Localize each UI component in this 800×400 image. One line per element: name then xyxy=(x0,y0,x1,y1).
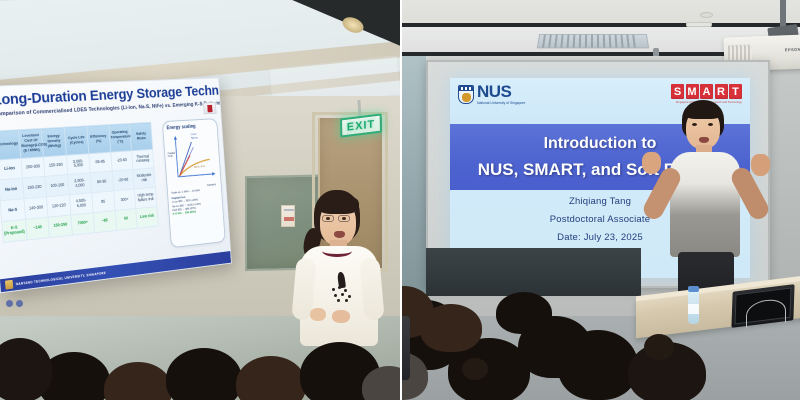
presenter-eye-left xyxy=(326,217,330,220)
cell-operating-temp: -20-60 xyxy=(110,150,133,171)
presenter-mouth xyxy=(699,137,709,143)
cell-energy-density: 150-250 xyxy=(44,155,68,177)
presenter-mouth xyxy=(334,231,345,238)
shirt-graphic xyxy=(330,272,356,302)
cell-energy-density: 120-220 xyxy=(47,195,71,217)
exit-sign-label: EXIT xyxy=(347,118,375,134)
panel-divider xyxy=(400,0,402,400)
audience-hair-bun xyxy=(644,334,674,360)
smart-letter: T xyxy=(729,84,742,99)
presenter-hand-left xyxy=(642,152,661,174)
presenter-eye-right xyxy=(708,123,713,126)
presenter-hand-right xyxy=(751,154,770,176)
bottle-cap xyxy=(688,286,699,292)
presenter-hand-left xyxy=(310,308,326,321)
smart-letter: M xyxy=(686,84,699,99)
energy-scaling-plot: Li-ionNa-ion Na-S / K-S Capital Cost Cap… xyxy=(167,129,218,189)
presenter-arm-right xyxy=(359,257,384,321)
audience-head xyxy=(104,362,172,400)
cell-operating-temp: 300+ xyxy=(113,189,136,210)
nus-tagline: National University of Singapore xyxy=(477,101,525,105)
cell-lcos: ~140 xyxy=(25,217,50,240)
ntu-badge-icon xyxy=(203,102,217,114)
cell-safety: Moderate risk xyxy=(133,168,155,189)
audience-head xyxy=(558,330,638,400)
cell-cycle-life: 7000+ xyxy=(71,213,95,235)
control-dot-icon xyxy=(16,300,23,307)
ntu-crest-icon xyxy=(5,280,13,290)
left-slide: Long-Duration Energy Storage Technologie… xyxy=(0,78,231,292)
audience-head xyxy=(0,338,52,400)
cell-lcos: 140-300 xyxy=(24,197,49,219)
crest-band xyxy=(459,86,473,91)
cell-energy-density: 100-160 xyxy=(45,175,69,197)
presenter-shirt xyxy=(670,152,740,257)
air-vent xyxy=(537,34,649,48)
nus-wordmark: NUS xyxy=(477,84,525,100)
bottle-label xyxy=(688,304,699,314)
projector-brand-label: EPSON xyxy=(785,47,800,53)
th-efficiency: Efficiency (%) xyxy=(87,125,111,153)
presenter-collar xyxy=(322,245,352,257)
cell-operating-temp: 60 xyxy=(115,209,138,231)
cell-cycle-life: 4,500-6,000 xyxy=(69,193,93,215)
smart-letter: R xyxy=(715,84,728,99)
photo-composite: EXIT Long-Duration Energy Storage Techno… xyxy=(0,0,800,400)
energy-scaling-notes: Scale up: 1 kWh → 10 kWh Capital Cost Li… xyxy=(171,187,219,216)
nus-wordmark-block: NUS National University of Singapore xyxy=(477,84,525,105)
cell-safety: High temp failure risk xyxy=(135,187,157,208)
smoke-detector-icon xyxy=(686,22,712,27)
cell-lcos: 200-300 xyxy=(21,156,46,178)
ldes-comparison-table: Technology Levelized Cost Of Storage(LCO… xyxy=(0,122,159,243)
audience-head xyxy=(236,356,306,400)
th-operating-temp: Operating Temperature (°C) xyxy=(108,124,131,152)
slide-title-line-1: Introduction to xyxy=(544,135,657,153)
presenter-eye-right xyxy=(342,217,346,220)
cell-technology: Na-S xyxy=(0,199,25,222)
th-lcos: Levelized Cost Of Storage(LCOS) ($ / MWh… xyxy=(18,129,43,158)
left-photo-panel: EXIT Long-Duration Energy Storage Techno… xyxy=(0,0,400,400)
cell-energy-density: 150-250 xyxy=(48,215,72,237)
th-safety: Safety Risks xyxy=(130,122,153,150)
left-presenter xyxy=(292,188,384,348)
whiteboard-lower-strip xyxy=(426,248,641,296)
ldes-table-wrapper: Technology Levelized Cost Of Storage(LCO… xyxy=(0,122,159,243)
cell-efficiency: ~85 xyxy=(93,211,116,233)
nus-crest-icon xyxy=(458,85,474,104)
cell-technology: Na-ion xyxy=(0,178,24,201)
smart-letter: S xyxy=(671,84,684,99)
table-body: Li-ion 200-300 150-250 3,000-5,000 85-95… xyxy=(0,149,158,242)
left-projection-screen: Long-Duration Energy Storage Technologie… xyxy=(0,77,232,293)
cell-efficiency: 80-90 xyxy=(90,171,113,193)
th-technology: Technology xyxy=(0,130,21,160)
cell-technology: Li-ion xyxy=(0,158,22,180)
left-side-wall xyxy=(400,56,426,316)
presenter-eye-left xyxy=(692,123,697,126)
cell-efficiency: 85-95 xyxy=(89,152,112,173)
shirt-dots xyxy=(330,286,356,302)
y-axis-label: Capital Cost xyxy=(168,152,177,159)
cell-cycle-life: 2,000-4,000 xyxy=(68,173,92,195)
smart-letter: A xyxy=(700,84,713,99)
crest-lion-icon xyxy=(462,93,471,102)
ceiling-fixture-icon xyxy=(700,12,713,18)
cell-operating-temp: -20-60 xyxy=(112,170,135,191)
audience-head xyxy=(496,292,552,334)
curve-label-liion: Li-ionNa-ion xyxy=(191,133,198,140)
cell-safety: Low risk xyxy=(136,207,158,228)
th-cycle-life: Cycle Life (Cycles) xyxy=(64,126,88,155)
smart-letter-blocks: S M A R T xyxy=(671,84,742,99)
right-photo-panel: EPSON NUS National U xyxy=(400,0,800,400)
cell-safety: Thermal runaway xyxy=(132,149,154,170)
presenter-hand-right xyxy=(332,310,350,323)
presenter-fringe xyxy=(684,104,722,119)
audience-hair-bun xyxy=(462,358,488,380)
control-dot-icon xyxy=(6,300,13,307)
energy-scaling-card: Energy scaling Li-ionNa-ion xyxy=(162,118,226,248)
presenter-fringe xyxy=(317,194,359,214)
right-side-wall xyxy=(766,56,800,306)
cell-technology: K-S (Proposed) xyxy=(2,219,27,242)
cell-cycle-life: 3,000-5,000 xyxy=(66,153,90,175)
audience-head xyxy=(420,304,482,352)
cell-efficiency: 85 xyxy=(92,191,115,213)
cell-lcos: 180-230 xyxy=(22,177,47,199)
audience-head xyxy=(166,348,242,400)
nus-logo: NUS National University of Singapore xyxy=(458,84,525,105)
